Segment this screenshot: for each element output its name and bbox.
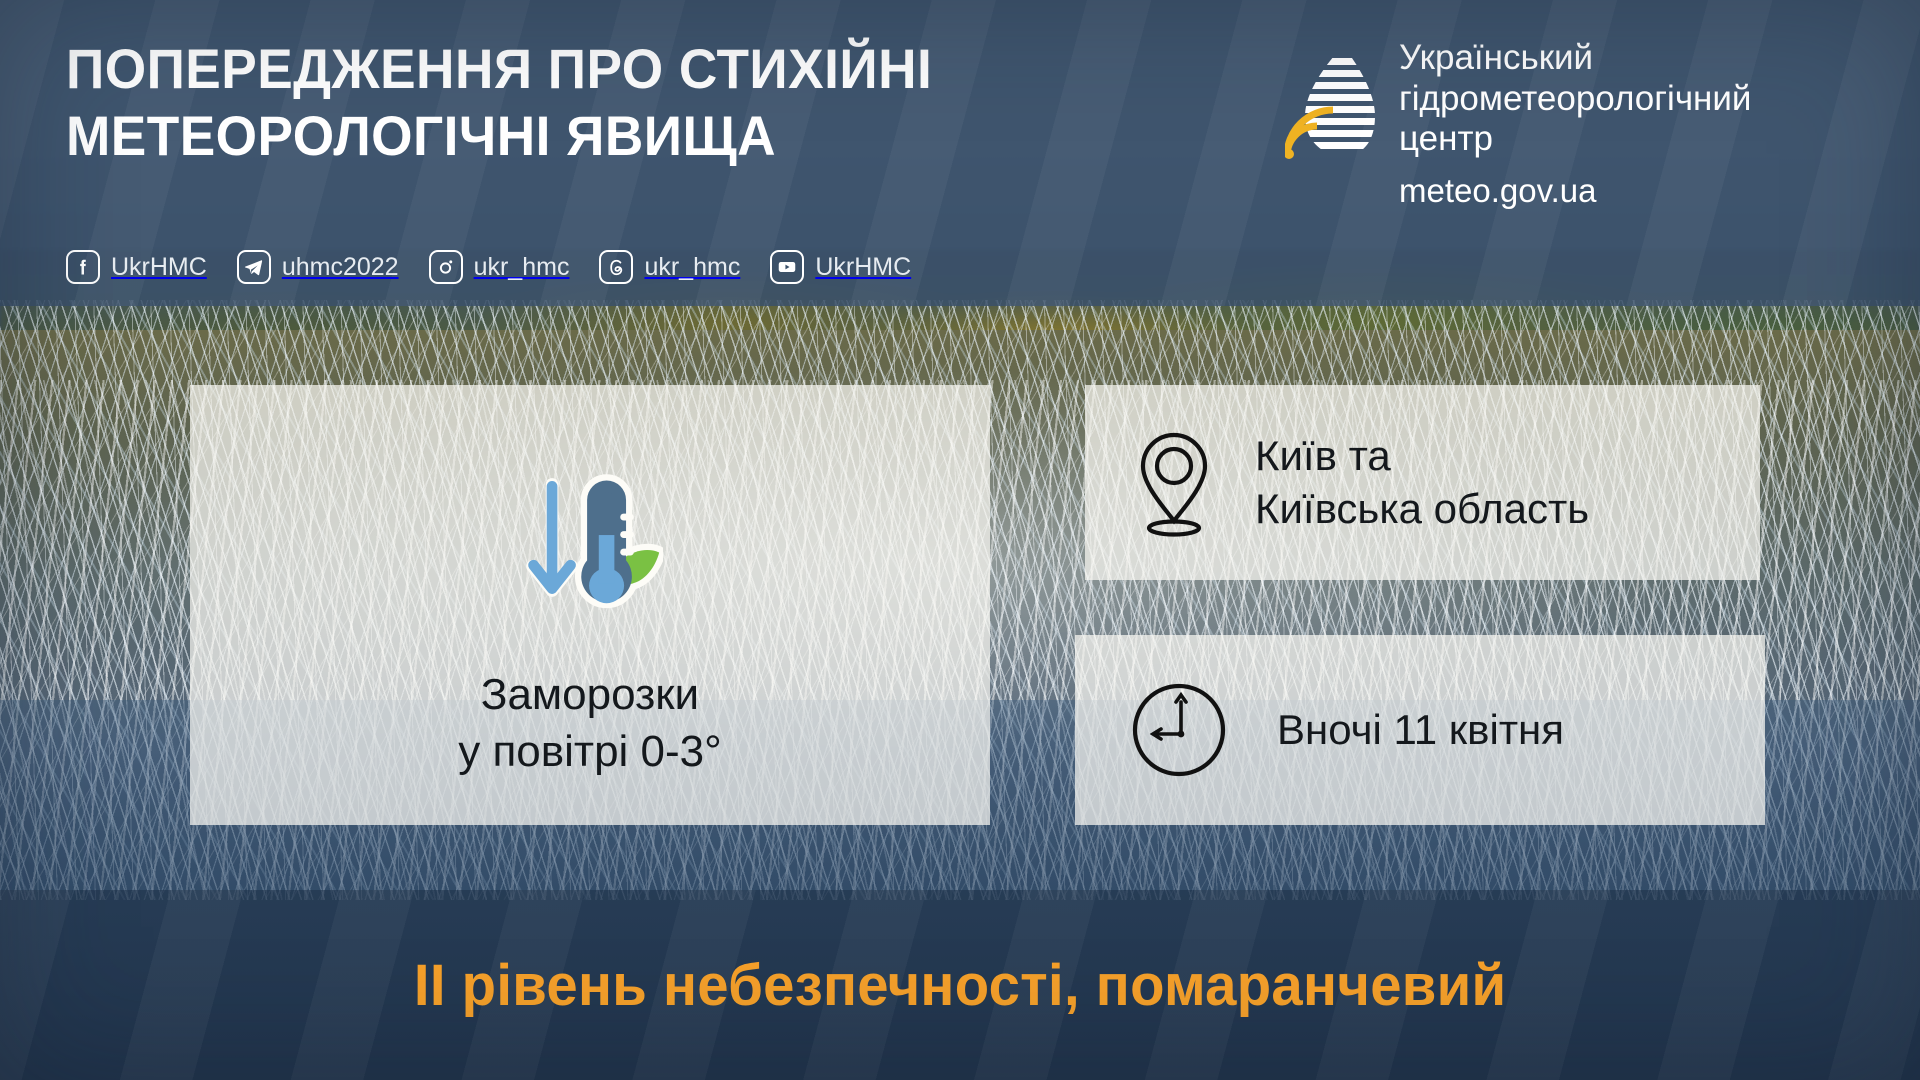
hydrometeorological-centre-droplet-logo [1285, 44, 1375, 164]
danger-level-text: II рівень небезпечності, помаранчевий [414, 952, 1507, 1019]
region-card: Київ та Київська область [1085, 385, 1760, 580]
thermometer-down-arrow-leaf-icon [517, 463, 663, 648]
social-handle-telegram: uhmc2022 [282, 253, 399, 282]
social-handle-threads: ukr_hmc [644, 253, 740, 282]
logo-line-2: гідрометеорологічний [1399, 79, 1751, 120]
region-text-line-1: Київ та [1255, 430, 1589, 483]
social-links: UkrHMC uhmc2022 ukr_hmc ukr_h [66, 250, 941, 284]
clock-icon [1127, 678, 1231, 782]
threads-icon [599, 250, 633, 284]
social-link-threads[interactable]: ukr_hmc [599, 250, 740, 284]
phenomenon-card: Заморозки у повітрі 0-3° [190, 385, 990, 825]
page-title: ПОПЕРЕДЖЕННЯ ПРО СТИХІЙНІ МЕТЕОРОЛОГІЧНІ… [66, 36, 1187, 169]
facebook-icon [66, 250, 100, 284]
phenomenon-text-line-1: Заморозки [458, 666, 721, 723]
map-pin-icon [1133, 429, 1215, 537]
organization-logo: Український гідрометеорологічний центр m… [1285, 38, 1751, 210]
region-text: Київ та Київська область [1255, 430, 1589, 536]
page-title-line-1: ПОПЕРЕДЖЕННЯ ПРО СТИХІЙНІ [66, 36, 1187, 103]
telegram-icon [237, 250, 271, 284]
page-title-line-2: МЕТЕОРОЛОГІЧНІ ЯВИЩА [66, 103, 1187, 170]
time-card: Вночі 11 квітня [1075, 635, 1765, 825]
header-banner: ПОПЕРЕДЖЕННЯ ПРО СТИХІЙНІ МЕТЕОРОЛОГІЧНІ… [0, 0, 1920, 306]
phenomenon-text: Заморозки у повітрі 0-3° [458, 666, 721, 780]
logo-text-block: Український гідрометеорологічний центр m… [1399, 38, 1751, 210]
social-link-instagram[interactable]: ukr_hmc [429, 250, 570, 284]
logo-line-1: Український [1399, 38, 1751, 79]
time-text: Вночі 11 квітня [1277, 704, 1564, 757]
logo-line-3: центр [1399, 119, 1751, 160]
logo-website: meteo.gov.ua [1399, 172, 1751, 210]
region-text-line-2: Київська область [1255, 483, 1589, 536]
social-handle-facebook: UkrHMC [111, 253, 207, 282]
instagram-icon [429, 250, 463, 284]
social-handle-youtube: UkrHMC [815, 253, 911, 282]
social-link-telegram[interactable]: uhmc2022 [237, 250, 399, 284]
youtube-icon [770, 250, 804, 284]
social-link-facebook[interactable]: UkrHMC [66, 250, 207, 284]
social-handle-instagram: ukr_hmc [474, 253, 570, 282]
danger-level-banner: II рівень небезпечності, помаранчевий [0, 890, 1920, 1080]
phenomenon-text-line-2: у повітрі 0-3° [458, 723, 721, 780]
social-link-youtube[interactable]: UkrHMC [770, 250, 911, 284]
